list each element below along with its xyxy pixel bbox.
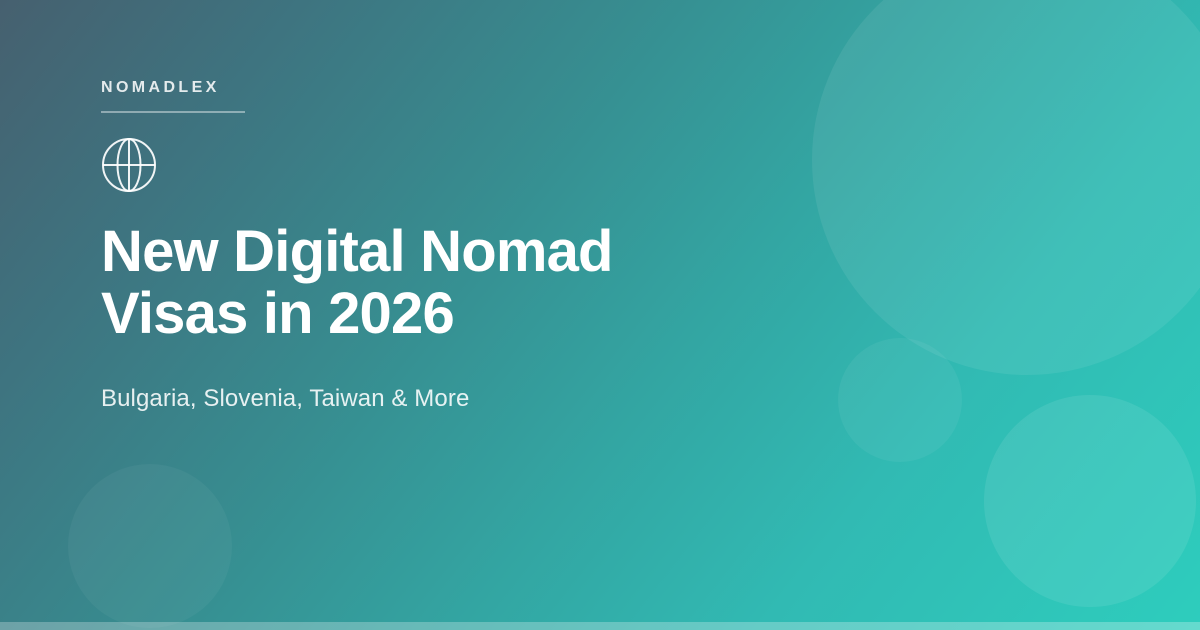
page-subtitle: Bulgaria, Slovenia, Taiwan & More [101, 384, 741, 414]
brand-divider [101, 111, 245, 113]
page-title-line-2: Visas in 2026 [101, 283, 741, 345]
decorative-circle-bottom-left [68, 464, 232, 628]
banner-content: NOMADLEX New Digital Nomad Visas in 2026… [101, 78, 741, 414]
og-banner-card: NOMADLEX New Digital Nomad Visas in 2026… [0, 0, 1200, 630]
decorative-circle-top-right [812, 0, 1200, 375]
page-title: New Digital Nomad Visas in 2026 [101, 221, 741, 345]
bottom-accent-strip [0, 622, 1200, 630]
globe-icon [101, 137, 157, 193]
decorative-circle-bottom-right-small [838, 338, 962, 462]
page-title-line-1: New Digital Nomad [101, 221, 741, 283]
decorative-circle-bottom-right-large [984, 395, 1196, 607]
brand-wordmark: NOMADLEX [101, 78, 741, 98]
